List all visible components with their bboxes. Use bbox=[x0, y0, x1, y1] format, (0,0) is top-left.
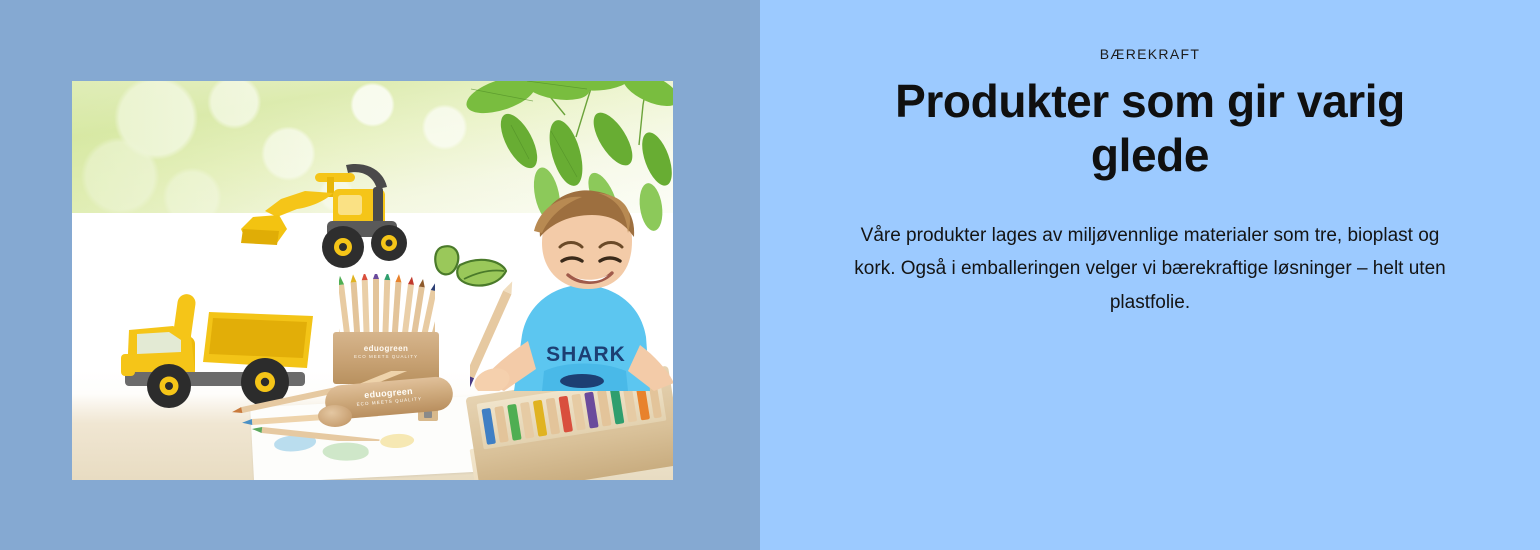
product-photo: eduogreen ECO MEETS QUALITY bbox=[72, 81, 673, 480]
tin-brand-tagline: ECO MEETS QUALITY bbox=[333, 354, 439, 360]
tin-brand-label: eduogreen ECO MEETS QUALITY bbox=[333, 344, 439, 360]
body-paragraph: Våre produkter lages av miljøvennlige ma… bbox=[852, 219, 1448, 320]
toy-excavator bbox=[207, 143, 407, 288]
shirt-text: SHARK bbox=[546, 343, 626, 366]
right-text-panel: BÆREKRAFT Produkter som gir varig glede … bbox=[760, 0, 1540, 550]
eyebrow-label: BÆREKRAFT bbox=[1100, 46, 1200, 62]
left-image-panel: eduogreen ECO MEETS QUALITY bbox=[0, 0, 760, 550]
page-title: Produkter som gir varig glede bbox=[880, 74, 1420, 183]
crayon-scribble bbox=[322, 441, 369, 461]
tube-cap bbox=[318, 405, 352, 427]
tin-brand-text: eduogreen bbox=[364, 344, 409, 353]
boy-drawing: SHARK bbox=[470, 185, 673, 391]
sustainability-banner: eduogreen ECO MEETS QUALITY bbox=[0, 0, 1540, 550]
